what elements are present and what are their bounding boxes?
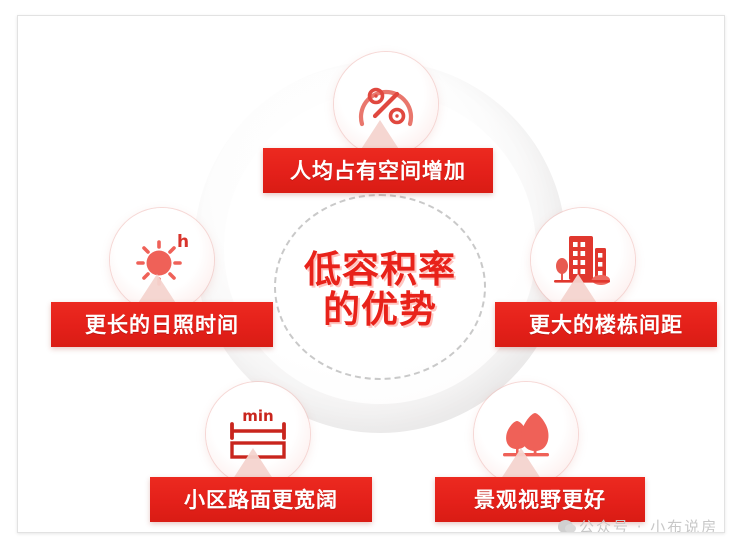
- center-title-line2: 的优势: [268, 290, 492, 330]
- center-title: 低容积率 的优势: [268, 250, 492, 330]
- center-title-line1: 低容积率: [304, 248, 456, 291]
- svg-text:min: min: [242, 407, 273, 425]
- svg-text:h: h: [177, 232, 189, 252]
- wechat-watermark-text: 公众号 · 小布说房: [579, 516, 718, 533]
- node-label[interactable]: 更大的楼栋间距: [495, 302, 717, 347]
- node-label[interactable]: 人均占有空间增加: [263, 148, 493, 193]
- node-label[interactable]: 更长的日照时间: [51, 302, 273, 347]
- wechat-watermark: 公众号 · 小布说房: [558, 516, 718, 533]
- node-label[interactable]: 小区路面更宽阔: [150, 477, 372, 522]
- wechat-icon: [558, 520, 573, 533]
- infographic-canvas: 低容积率 的优势 人均占有空间增加: [17, 15, 725, 533]
